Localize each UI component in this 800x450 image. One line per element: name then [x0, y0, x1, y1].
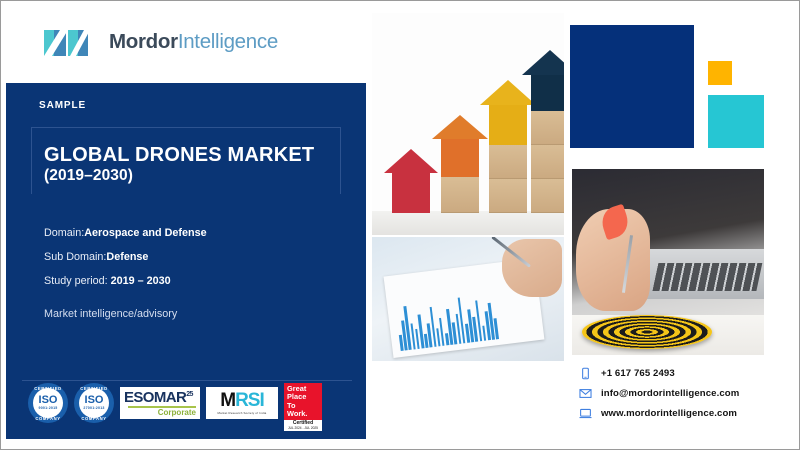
mrsi-badge: MRSI Market Research Society of India [206, 387, 278, 419]
iso-9001-ring-top: CERTIFIED [28, 386, 68, 391]
block-house-red [384, 149, 438, 213]
esomar-text: ESOMAR [124, 389, 186, 406]
cover-navy-panel: SAMPLE GLOBAL DRONES MARKET (2019–2030) … [6, 83, 366, 439]
brand-header: MordorIntelligence [1, 1, 371, 83]
email-icon [579, 387, 592, 400]
mrsi-fullname: Market Research Society of India [218, 411, 267, 415]
mrsi-letter-m: M [220, 390, 235, 411]
esomar-wordmark: ESOMAR25 [124, 390, 196, 405]
iso-27001-ring-bottom: COMPANY [74, 416, 114, 421]
meta-subdomain-label: Sub Domain: [44, 251, 106, 263]
esomar-tier: Corporate [124, 409, 196, 417]
meta-subdomain: Sub Domain:Defense [44, 251, 148, 263]
meta-study-value: 2019 – 2030 [111, 275, 171, 287]
mrsi-wordmark: MRSI [220, 391, 264, 410]
certification-badges: CERTIFIED COMPANY ISO 9001:2015 CERTIFIE… [22, 380, 352, 425]
brand-name-secondary: Intelligence [178, 30, 278, 53]
paper-bar-chart [394, 287, 499, 351]
block-house-navy [522, 50, 564, 213]
report-cover-page: MordorIntelligence SAMPLE GLOBAL DRONES … [0, 0, 800, 450]
iso-9001-label: ISO [39, 395, 58, 406]
mrsi-letters-rsi: RSI [235, 390, 264, 411]
great-place-to-work-badge: Great Place To Work. Certified JUL 2024 … [284, 383, 322, 423]
meta-domain-value: Aerospace and Defense [84, 227, 206, 239]
wooden-blocks-photo [372, 13, 564, 235]
hand-holding-pen [502, 239, 562, 297]
body-wood-orange [441, 177, 479, 213]
esomar-badge: ESOMAR25 Corporate [120, 387, 200, 419]
gptw-certified: Certified JUL 2024 - JUL 2025 [284, 420, 322, 431]
contact-website-text: www.mordorintelligence.com [601, 408, 737, 419]
meta-domain: Domain:Aerospace and Defense [44, 227, 207, 239]
iso-9001-ring-bottom: COMPANY [28, 416, 68, 421]
body-wood-navy-3 [531, 179, 564, 213]
body-wood-navy-1 [531, 111, 564, 145]
dartboard-photo [572, 169, 764, 355]
meta-tagline: Market intelligence/advisory [44, 308, 177, 320]
iso-27001-core: ISO 27001:2013 [83, 395, 104, 411]
iso-27001-badge: CERTIFIED COMPANY ISO 27001:2013 [74, 383, 114, 423]
brand-wordmark: MordorIntelligence [109, 30, 278, 54]
dartboard-target [582, 315, 712, 349]
page-title-years: (2019–2030) [44, 167, 133, 185]
esomar-year: 25 [186, 391, 193, 398]
gptw-slogan: Great Place To Work. [284, 383, 322, 420]
sample-badge: SAMPLE [39, 100, 86, 111]
geometric-accent-blocks [570, 25, 786, 165]
contact-email-text: info@mordorintelligence.com [601, 388, 739, 399]
meta-subdomain-value: Defense [106, 251, 148, 263]
body-navy [531, 75, 564, 111]
roof-red [384, 149, 438, 173]
iso-27001-label: ISO [83, 395, 104, 406]
contact-info: +1 617 765 2493 info@mordorintelligence.… [579, 367, 739, 420]
roof-navy [522, 50, 564, 75]
cyan-square-block [708, 95, 764, 148]
iso-9001-standard: 9001:2015 [39, 407, 58, 411]
body-wood-navy-2 [531, 145, 564, 179]
website-icon [579, 407, 592, 420]
gptw-line-4: Work. [287, 410, 319, 418]
meta-study-label: Study period: [44, 275, 108, 287]
laptop [637, 249, 764, 299]
body-orange [441, 139, 479, 177]
orange-square-block [708, 61, 732, 85]
page-title: GLOBAL DRONES MARKET [44, 144, 314, 168]
iso-27001-ring-top: CERTIFIED [74, 386, 114, 391]
photo-floor [372, 211, 564, 235]
contact-phone-text: +1 617 765 2493 [601, 368, 675, 379]
contact-phone-row[interactable]: +1 617 765 2493 [579, 367, 739, 380]
iso-9001-core: ISO 9001:2015 [39, 395, 58, 411]
brand-name-primary: Mordor [109, 30, 178, 53]
iso-27001-standard: 27001:2013 [83, 407, 104, 411]
chart-report-photo [372, 237, 564, 361]
laptop-keyboard [652, 263, 762, 291]
contact-email-row[interactable]: info@mordorintelligence.com [579, 387, 739, 400]
iso-9001-badge: CERTIFIED COMPANY ISO 9001:2015 [28, 383, 68, 423]
phone-icon [579, 367, 592, 380]
meta-domain-label: Domain: [44, 227, 84, 239]
mordor-m-logo-icon [44, 28, 100, 56]
contact-website-row[interactable]: www.mordorintelligence.com [579, 407, 739, 420]
meta-study-period: Study period: 2019 – 2030 [44, 275, 171, 287]
gptw-certified-period: JUL 2024 - JUL 2025 [284, 427, 322, 431]
body-red [392, 173, 430, 213]
navy-square-block [570, 25, 694, 148]
